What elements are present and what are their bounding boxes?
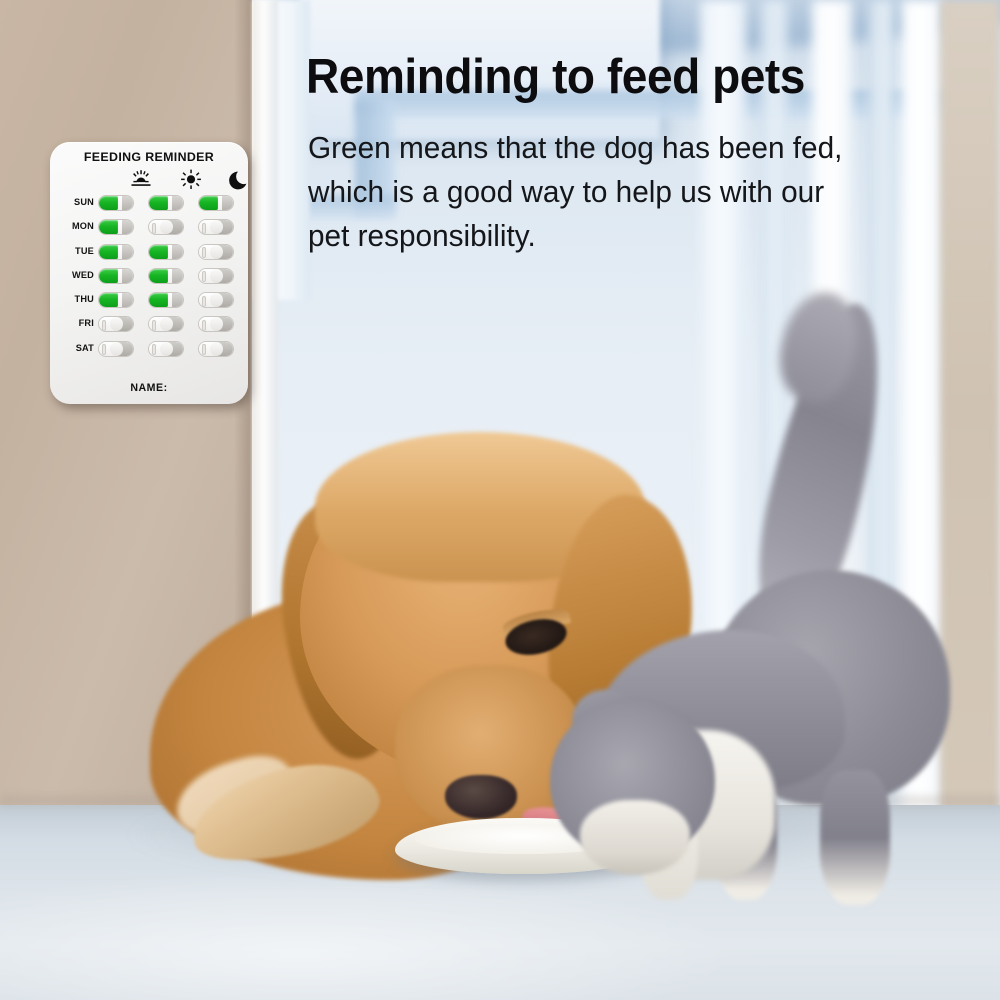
switch-wed-morning[interactable] xyxy=(98,268,134,284)
kitten-leg-rear xyxy=(820,770,890,905)
day-label-mon: MON xyxy=(50,221,94,231)
switch-tue-night[interactable] xyxy=(198,244,234,260)
switch-lip xyxy=(202,223,206,234)
day-label-sat: SAT xyxy=(50,343,94,353)
switch-tue-morning[interactable] xyxy=(98,244,134,260)
switch-lip xyxy=(202,247,206,258)
feeding-reminder-device[interactable]: FEEDING REMINDER xyxy=(50,142,248,404)
switch-lip xyxy=(152,344,156,355)
switch-sun-night[interactable] xyxy=(198,195,234,211)
switch-track xyxy=(149,245,168,259)
switch-lip xyxy=(102,344,106,355)
switch-wed-noon[interactable] xyxy=(148,268,184,284)
switch-track xyxy=(149,196,168,210)
switch-track xyxy=(149,293,168,307)
day-label-thu: THU xyxy=(50,294,94,304)
feeding-row-sun: SUN xyxy=(50,192,248,216)
feeding-row-fri: FRI xyxy=(50,313,248,337)
day-label-fri: FRI xyxy=(50,318,94,328)
sun-icon xyxy=(178,168,204,190)
kitten xyxy=(520,300,960,880)
switch-arc xyxy=(210,245,223,259)
switch-lip xyxy=(202,344,206,355)
feeding-row-sat: SAT xyxy=(50,338,248,362)
day-label-wed: WED xyxy=(50,270,94,280)
switch-fri-night[interactable] xyxy=(198,316,234,332)
switch-lip xyxy=(202,296,206,307)
day-label-sun: SUN xyxy=(50,197,94,207)
device-title: FEEDING REMINDER xyxy=(50,150,248,164)
switch-track xyxy=(99,220,118,234)
switch-lip xyxy=(152,320,156,331)
moon-icon xyxy=(228,168,254,190)
switch-lip xyxy=(102,320,106,331)
product-lifestyle-banner: Reminding to feed pets Green means that … xyxy=(0,0,1000,1000)
day-label-tue: TUE xyxy=(50,246,94,256)
switch-sat-noon[interactable] xyxy=(148,341,184,357)
switch-arc xyxy=(210,269,223,283)
feeding-row-wed: WED xyxy=(50,265,248,289)
switch-track xyxy=(99,269,118,283)
sunrise-icon xyxy=(128,168,154,190)
switch-lip xyxy=(202,320,206,331)
switch-sun-morning[interactable] xyxy=(98,195,134,211)
switch-thu-night[interactable] xyxy=(198,292,234,308)
switch-tue-noon[interactable] xyxy=(148,244,184,260)
name-label: NAME: xyxy=(50,382,248,394)
switch-sun-noon[interactable] xyxy=(148,195,184,211)
switch-track xyxy=(99,245,118,259)
switch-lip xyxy=(152,223,156,234)
switch-thu-noon[interactable] xyxy=(148,292,184,308)
description-text: Green means that the dog has been fed, w… xyxy=(308,126,884,258)
kitten-snout xyxy=(580,800,690,875)
switch-mon-morning[interactable] xyxy=(98,219,134,235)
switch-track xyxy=(99,196,118,210)
switch-knob xyxy=(172,245,183,259)
description-line-3: pet responsibility. xyxy=(308,214,884,258)
switch-mon-night[interactable] xyxy=(198,219,234,235)
switch-fri-noon[interactable] xyxy=(148,316,184,332)
switch-thu-morning[interactable] xyxy=(98,292,134,308)
switch-track xyxy=(199,196,218,210)
switch-arc xyxy=(110,342,123,356)
feeding-row-thu: THU xyxy=(50,289,248,313)
switch-knob xyxy=(122,245,133,259)
dog-nose xyxy=(445,775,517,819)
feeding-row-mon: MON xyxy=(50,216,248,240)
switch-wed-night[interactable] xyxy=(198,268,234,284)
time-of-day-icon-row xyxy=(50,168,248,190)
switch-fri-morning[interactable] xyxy=(98,316,134,332)
switch-lip xyxy=(202,271,206,282)
page-title: Reminding to feed pets xyxy=(306,52,926,103)
switch-sat-morning[interactable] xyxy=(98,341,134,357)
switch-mon-noon[interactable] xyxy=(148,219,184,235)
switch-arc xyxy=(160,342,173,356)
switch-sat-night[interactable] xyxy=(198,341,234,357)
description-line-2: which is a good way to help us with our xyxy=(308,170,884,214)
switch-arc xyxy=(210,342,223,356)
switch-track xyxy=(99,293,118,307)
feeding-switch-grid[interactable]: SUNMONTUEWEDTHUFRISAT xyxy=(50,192,248,362)
feeding-row-tue: TUE xyxy=(50,241,248,265)
description-line-1: Green means that the dog has been fed, xyxy=(308,126,884,170)
switch-track xyxy=(149,269,168,283)
